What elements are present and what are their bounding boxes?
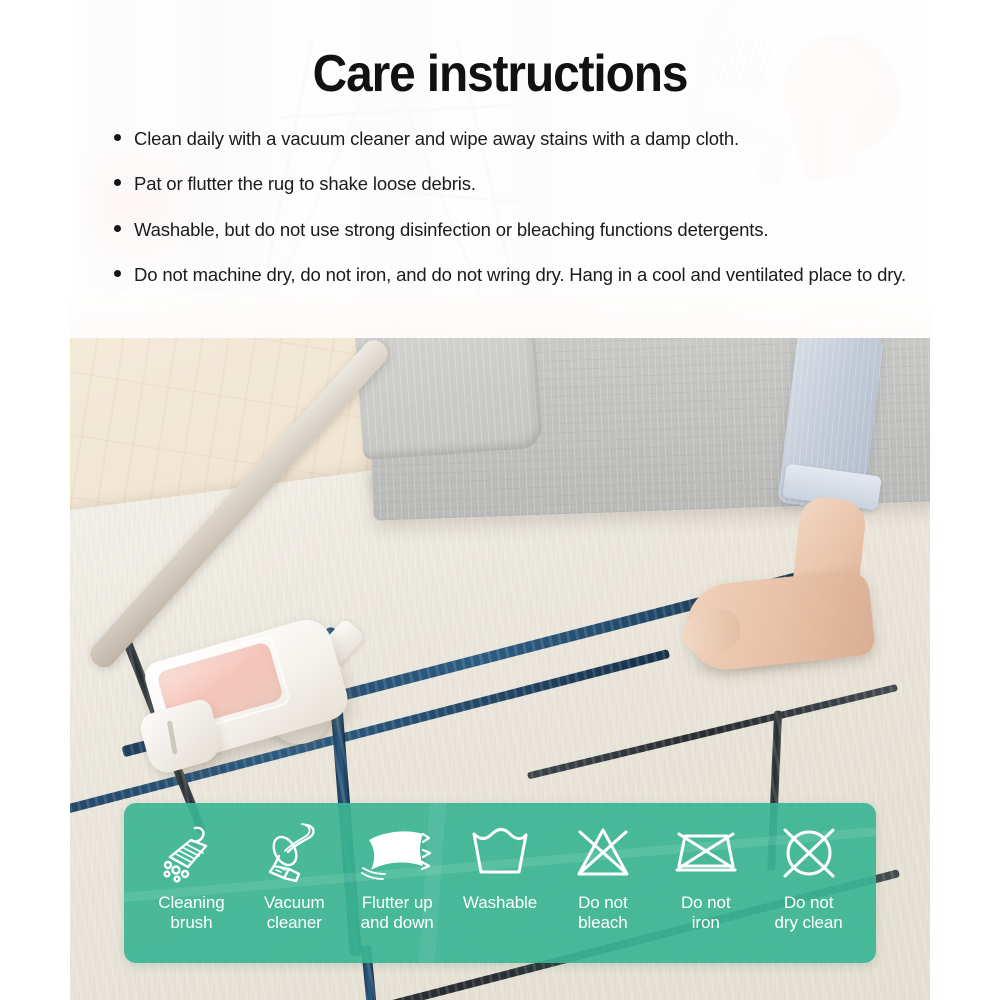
list-item: Do not machine dry, do not iron, and do … (112, 262, 912, 288)
care-item-washable: Washable (449, 817, 552, 913)
care-instruction-list: Clean daily with a vacuum cleaner and wi… (112, 126, 912, 288)
care-item-label: Cleaning brush (158, 893, 224, 932)
care-item-label: Washable (463, 893, 537, 913)
flutter-up-and-down-icon (359, 817, 435, 889)
vacuum-cleaner-icon (264, 817, 324, 889)
bullet-dot-icon (114, 179, 121, 186)
page-title: Care instructions (40, 44, 960, 104)
care-item-do-not-bleach: Do not bleach (551, 817, 654, 932)
list-item-text: Do not machine dry, do not iron, and do … (134, 264, 906, 285)
care-item-label: Flutter up and down (361, 893, 434, 932)
rug-line (527, 684, 898, 780)
bullet-dot-icon (114, 270, 121, 277)
bullet-dot-icon (114, 134, 121, 141)
care-item-label: Do not bleach (578, 893, 628, 932)
care-symbols-panel: Cleaning brush Vacuum cleaner (124, 803, 876, 963)
list-item-text: Washable, but do not use strong disinfec… (134, 219, 768, 240)
product-care-page: Care instructions Clean daily with a vac… (0, 0, 1000, 1000)
care-item-label: Do not iron (681, 893, 731, 932)
care-item-flutter-up-and-down: Flutter up and down (346, 817, 449, 932)
care-item-vacuum-cleaner: Vacuum cleaner (243, 817, 346, 932)
list-item: Washable, but do not use strong disinfec… (112, 217, 912, 243)
list-item-text: Clean daily with a vacuum cleaner and wi… (134, 128, 739, 149)
do-not-iron-icon (675, 817, 737, 889)
list-item-text: Pat or flutter the rug to shake loose de… (134, 173, 476, 194)
washable-tub-icon (469, 817, 531, 889)
care-item-do-not-iron: Do not iron (654, 817, 757, 932)
list-item: Pat or flutter the rug to shake loose de… (112, 171, 912, 197)
do-not-bleach-icon (574, 817, 632, 889)
list-item: Clean daily with a vacuum cleaner and wi… (112, 126, 912, 152)
care-item-label: Do not dry clean (775, 893, 843, 932)
care-item-do-not-dry-clean: Do not dry clean (757, 817, 860, 932)
bullet-dot-icon (114, 225, 121, 232)
care-item-label: Vacuum cleaner (264, 893, 325, 932)
do-not-dry-clean-icon (780, 817, 838, 889)
care-item-cleaning-brush: Cleaning brush (140, 817, 243, 932)
cleaning-brush-icon (158, 817, 224, 889)
